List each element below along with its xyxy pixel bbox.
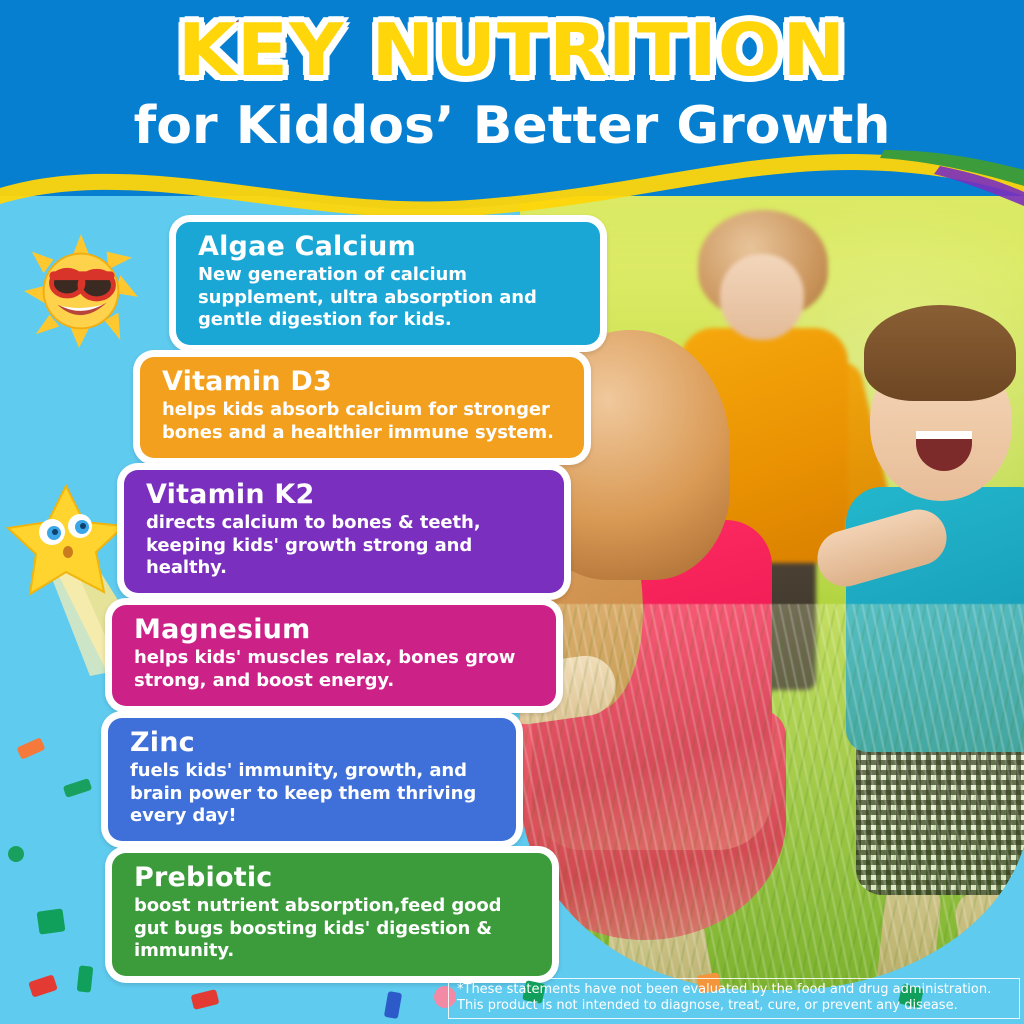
nutrient-card-algae-calcium[interactable]: Algae Calcium New generation of calcium … — [176, 222, 600, 345]
nutrient-title: Algae Calcium — [198, 232, 582, 262]
nutrient-description: helps kids absorb calcium for stronger b… — [162, 399, 566, 444]
nutrient-description: directs calcium to bones & teeth, keepin… — [146, 512, 546, 579]
nutrient-title: Zinc — [130, 728, 498, 758]
nutrient-title: Vitamin K2 — [146, 480, 546, 510]
confetti-blue-1 — [384, 991, 402, 1019]
nutrient-title: Vitamin D3 — [162, 367, 566, 397]
page-title: KEY NUTRITION — [0, 8, 1024, 92]
nutrient-card-magnesium[interactable]: Magnesium helps kids' muscles relax, bon… — [112, 605, 556, 706]
disclaimer-line-1: *These statements have not been evaluate… — [457, 982, 1013, 998]
nutrient-card-prebiotic[interactable]: Prebiotic boost nutrient absorption,feed… — [112, 853, 552, 976]
page-subtitle: for Kiddos’ Better Growth — [0, 96, 1024, 156]
nutrient-title: Magnesium — [134, 615, 538, 645]
nutrient-description: fuels kids' immunity, growth, and brain … — [130, 760, 498, 827]
nutrient-title: Prebiotic — [134, 863, 534, 893]
disclaimer-box: *These statements have not been evaluate… — [448, 978, 1020, 1019]
nutrient-description: New generation of calcium supplement, ul… — [198, 264, 582, 331]
poster-root: KEY NUTRITION for Kiddos’ Better Growth — [0, 0, 1024, 1024]
nutrient-description: helps kids' muscles relax, bones grow st… — [134, 647, 538, 692]
nutrient-card-list: Algae Calcium New generation of calcium … — [0, 222, 600, 988]
nutrient-card-vitamin-k2[interactable]: Vitamin K2 directs calcium to bones & te… — [124, 470, 564, 593]
nutrient-card-vitamin-d3[interactable]: Vitamin D3 helps kids absorb calcium for… — [140, 357, 584, 458]
nutrient-description: boost nutrient absorption,feed good gut … — [134, 895, 534, 962]
confetti-red-2 — [191, 989, 220, 1010]
nutrient-card-zinc[interactable]: Zinc fuels kids' immunity, growth, and b… — [108, 718, 516, 841]
disclaimer-line-2: This product is not intended to diagnose… — [457, 998, 1013, 1014]
